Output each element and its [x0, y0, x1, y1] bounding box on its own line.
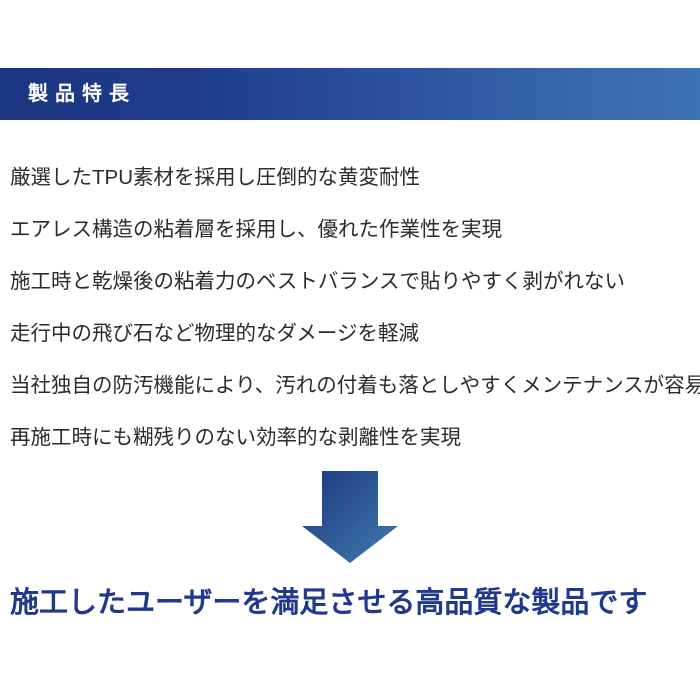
- tagline-text: 施工したユーザーを満足させる高品質な製品です: [10, 580, 700, 626]
- feature-line: 厳選したTPU素材を採用し圧倒的な黄変耐性: [10, 152, 700, 204]
- feature-line: 再施工時にも糊残りのない効率的な剥離性を実現: [10, 412, 700, 464]
- feature-line: 施工時と乾燥後の粘着力のベストバランスで貼りやすく剥がれない: [10, 256, 700, 308]
- product-features-panel: 製品特長 厳選したTPU素材を採用し圧倒的な黄変耐性 エアレス構造の粘着層を採用…: [0, 0, 700, 700]
- feature-line: 走行中の飛び石など物理的なダメージを軽減: [10, 308, 700, 360]
- section-header-band: 製品特長: [0, 68, 700, 120]
- feature-line: エアレス構造の粘着層を採用し、優れた作業性を実現: [10, 204, 700, 256]
- feature-list: 厳選したTPU素材を採用し圧倒的な黄変耐性 エアレス構造の粘着層を採用し、優れた…: [10, 152, 700, 464]
- section-header-title: 製品特長: [28, 84, 136, 104]
- feature-line: 当社独自の防汚機能により、汚れの付着も落としやすくメンテナンスが容易: [10, 360, 700, 412]
- arrow-down-icon: [302, 471, 398, 563]
